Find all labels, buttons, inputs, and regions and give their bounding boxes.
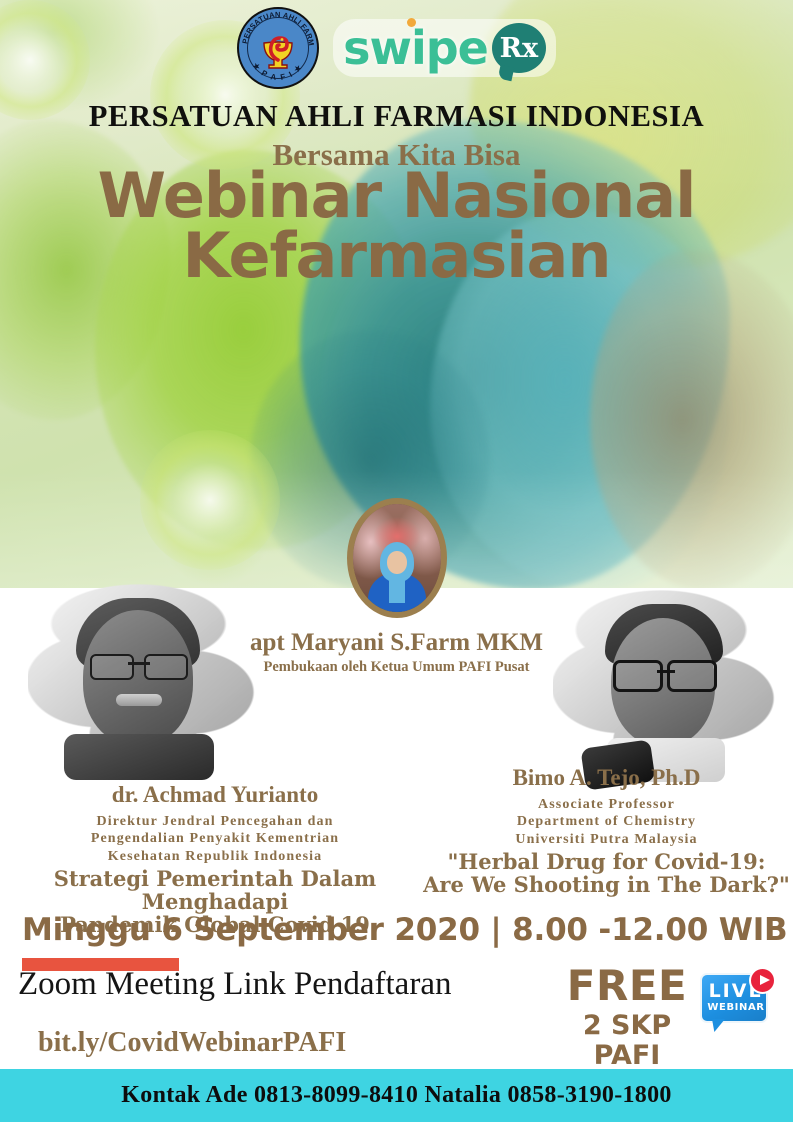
live-webinar-badge: LIVE WEBINAR [698, 967, 776, 1039]
rx-label: Rx [500, 35, 539, 62]
free-label: FREE [552, 965, 702, 1007]
webinar-label: WEBINAR [702, 1003, 770, 1013]
schedule-line: Minggu 6 September 2020 | 8.00 -12.00 WI… [22, 912, 787, 948]
logo-row: PERSATUAN AHLI FARMASI INDONESIA ★ P A F… [0, 6, 793, 90]
page-title: Webinar Nasional Kefarmasian [0, 166, 793, 286]
speaker-right-role-line-3: Universiti Putra Malaysia [420, 831, 793, 848]
contact-footer: Kontak Ade 0813-8099-8410 Natalia 0858-3… [0, 1069, 793, 1122]
speaker-left-role: Direktur Jendral Pencegahan dan Pengenda… [0, 813, 430, 865]
speaker-right-role: Associate Professor Department of Chemis… [420, 796, 793, 848]
yurianto-glasses-icon [90, 654, 188, 676]
maryani-face [387, 551, 407, 574]
yurianto-moustache [116, 694, 162, 706]
speaker-left-name: dr. Achmad Yurianto [0, 782, 430, 808]
speaker-right-info: Bimo A. Tejo, Ph.D Associate Professor D… [420, 765, 793, 896]
contact-text: Kontak Ade 0813-8099-8410 Natalia 0858-3… [121, 1082, 671, 1109]
maryani-figure [368, 542, 426, 614]
pafi-logo: PERSATUAN AHLI FARMASI INDONESIA ★ P A F… [237, 7, 319, 89]
yurianto-shirt [64, 734, 214, 780]
registration-platform: Zoom Meeting Link Pendaftaran [18, 966, 451, 1003]
registration-link[interactable]: bit.ly/CovidWebinarPAFI [38, 1027, 346, 1059]
organization-name: PERSATUAN AHLI FARMASI INDONESIA [0, 99, 793, 134]
bowl-of-hygieia-icon [258, 26, 298, 70]
maryani-avatar [347, 498, 447, 618]
speaker-left-role-line-2: Pengendalian Penyakit Kementrian [0, 830, 430, 847]
speaker-right-topic-line-1: "Herbal Drug for Covid-19: [420, 850, 793, 873]
skp-credits: 2 SKP PAFI [552, 1011, 702, 1070]
speaker-right-role-line-1: Associate Professor [420, 796, 793, 813]
tejo-glasses-icon [613, 660, 717, 686]
speaker-right-topic: "Herbal Drug for Covid-19: Are We Shooti… [420, 850, 793, 896]
speaker-left-role-line-1: Direktur Jendral Pencegahan dan [0, 813, 430, 830]
achmad-yurianto-photo [28, 582, 258, 772]
tejo-glasses-bridge [657, 670, 675, 673]
speaker-right-name: Bimo A. Tejo, Ph.D [420, 765, 793, 791]
speaker-right-topic-line-2: Are We Shooting in The Dark?" [420, 873, 793, 896]
speaker-left-role-line-3: Kesehatan Republik Indonesia [0, 848, 430, 865]
play-icon [749, 967, 776, 994]
bimo-tejo-photo [553, 588, 778, 778]
swipe-wordmark: swipe [343, 25, 488, 71]
yurianto-glasses-bridge [128, 662, 150, 665]
title-line-2: Kefarmasian [0, 226, 793, 286]
speaker-right-role-line-2: Department of Chemistry [420, 813, 793, 830]
webinar-poster: PERSATUAN AHLI FARMASI INDONESIA ★ P A F… [0, 0, 793, 1122]
pricing-block: FREE 2 SKP PAFI [552, 965, 702, 1070]
swiperx-logo: swipe Rx [333, 19, 556, 77]
rx-bubble-icon: Rx [492, 23, 546, 73]
speaker-left-topic-line-1: Strategi Pemerintah Dalam Menghadapi [0, 867, 430, 913]
